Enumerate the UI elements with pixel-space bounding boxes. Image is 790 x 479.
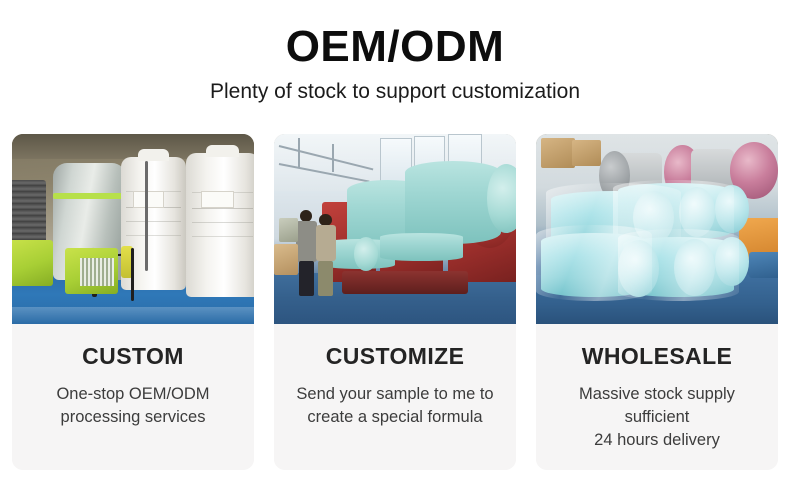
feature-card-wholesale[interactable]: WHOLESALE Massive stock supply sufficien…: [536, 134, 778, 470]
promo-banner: OEM/ODM Plenty of stock to support custo…: [0, 0, 790, 479]
banner-header: OEM/ODM Plenty of stock to support custo…: [0, 0, 790, 106]
subheadline: Plenty of stock to support customization: [0, 78, 790, 106]
feature-card-custom[interactable]: CUSTOM One-stop OEM/ODM processing servi…: [12, 134, 254, 470]
caption-custom: CUSTOM One-stop OEM/ODM processing servi…: [12, 324, 254, 470]
worker-2: [315, 214, 337, 298]
photo-workshop-storage-tanks: [12, 134, 254, 324]
card-title: CUSTOMIZE: [284, 342, 506, 370]
feature-card-customize[interactable]: CUSTOMIZE Send your sample to me to crea…: [274, 134, 516, 470]
card-title: CUSTOM: [22, 342, 244, 370]
headline: OEM/ODM: [0, 22, 790, 72]
feature-card-row: CUSTOM One-stop OEM/ODM processing servi…: [12, 134, 778, 470]
photo-production-line-workers: [274, 134, 516, 324]
card-title: WHOLESALE: [546, 342, 768, 370]
card-body: Send your sample to me to create a speci…: [284, 383, 506, 429]
caption-wholesale: WHOLESALE Massive stock supply sufficien…: [536, 324, 778, 470]
card-body: Massive stock supply sufficient 24 hours…: [546, 383, 768, 452]
card-body: One-stop OEM/ODM processing services: [22, 383, 244, 429]
photo-wrapped-fabric-rolls-stock: [536, 134, 778, 324]
caption-customize: CUSTOMIZE Send your sample to me to crea…: [274, 324, 516, 470]
